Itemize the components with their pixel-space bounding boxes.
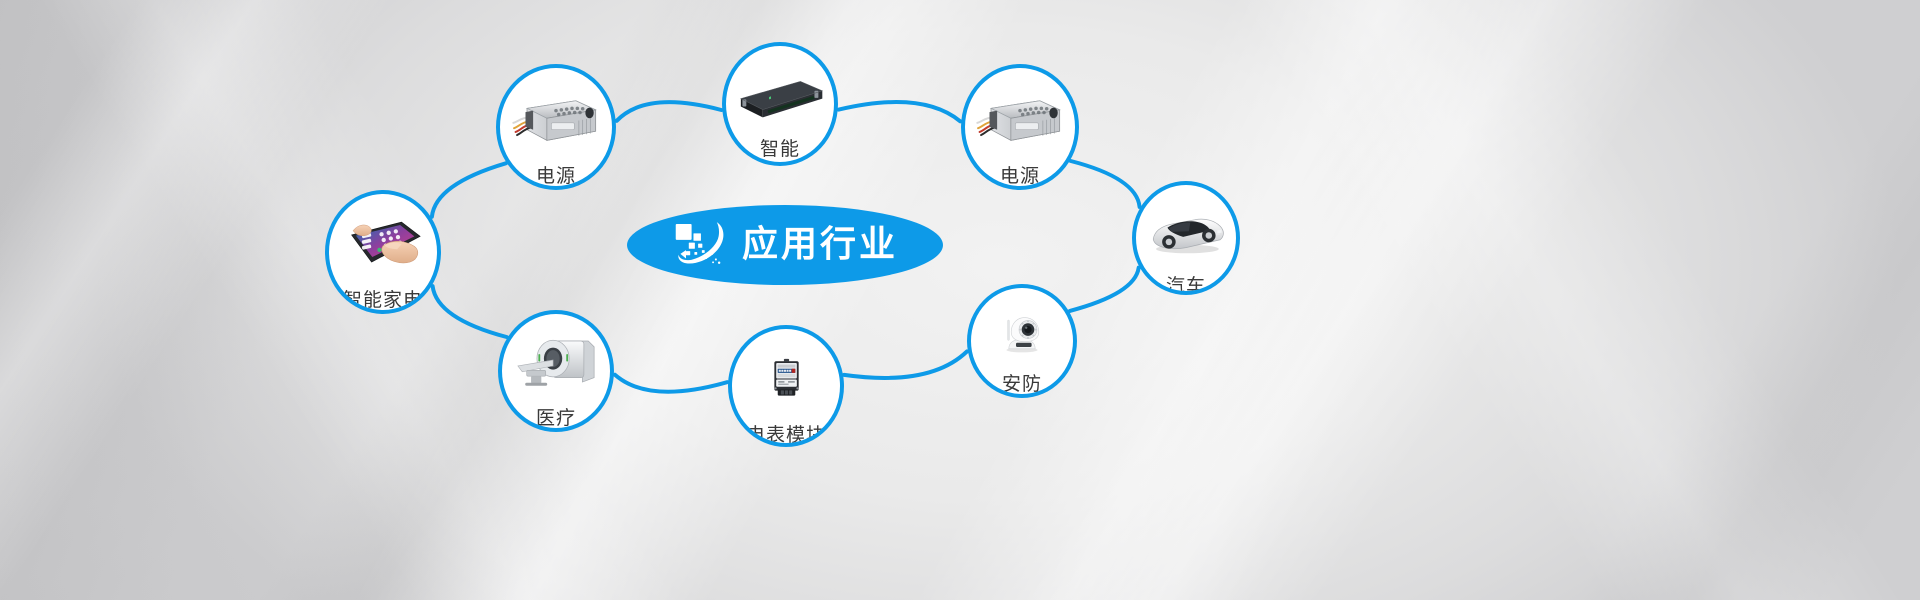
tablet-touch-icon — [329, 213, 437, 274]
industry-node-security[interactable]: 安防 — [967, 284, 1077, 398]
connector-medical-to-smart-home — [433, 286, 507, 337]
industry-node-medical[interactable]: 医疗 — [498, 310, 614, 432]
industry-node-smart[interactable]: 智能 — [722, 42, 838, 166]
rack-server-icon — [726, 65, 834, 127]
industry-node-automotive[interactable]: 汽车 — [1132, 181, 1240, 295]
sports-car-icon — [1136, 202, 1236, 259]
ct-scanner-icon — [502, 332, 610, 391]
connector-automotive-to-security — [1070, 268, 1139, 311]
center-title: 应用行业 — [742, 227, 898, 263]
connector-smart-home-to-power-left — [432, 163, 506, 216]
connector-network — [0, 0, 1920, 600]
industry-node-power-left[interactable]: 电源 — [496, 64, 616, 190]
connector-power-left-to-smart — [617, 102, 722, 121]
atx-power-supply-icon — [965, 87, 1075, 149]
industry-node-label: 智能 — [760, 140, 800, 159]
connector-meter-module-to-medical — [615, 375, 727, 392]
ip-camera-icon — [971, 305, 1073, 358]
connector-power-right-to-automotive — [1071, 161, 1140, 207]
atx-power-supply-icon — [500, 87, 612, 149]
industry-node-meter-module[interactable]: 电表模块 — [728, 325, 844, 447]
center-badge: 应用行业 — [627, 205, 943, 285]
background-silk-texture — [0, 0, 1920, 600]
electricity-meter-icon — [732, 347, 840, 408]
industry-node-label: 电源 — [536, 167, 576, 186]
industry-node-label: 电源 — [1000, 167, 1040, 186]
application-industries-banner: 应用行业 — [0, 0, 1920, 600]
industry-node-label: 智能家电 — [343, 291, 423, 310]
industry-node-label: 安防 — [1002, 375, 1042, 394]
industry-node-power-right[interactable]: 电源 — [961, 64, 1079, 190]
connector-smart-to-power-right — [839, 102, 960, 121]
industry-node-label: 医疗 — [536, 409, 576, 428]
industry-node-label: 汽车 — [1166, 277, 1206, 295]
industry-node-smart-home[interactable]: 智能家电 — [325, 190, 441, 314]
connector-security-to-meter-module — [844, 352, 967, 378]
pixel-orbit-logo-icon — [672, 219, 728, 271]
industry-node-label: 电表模块 — [746, 426, 826, 445]
